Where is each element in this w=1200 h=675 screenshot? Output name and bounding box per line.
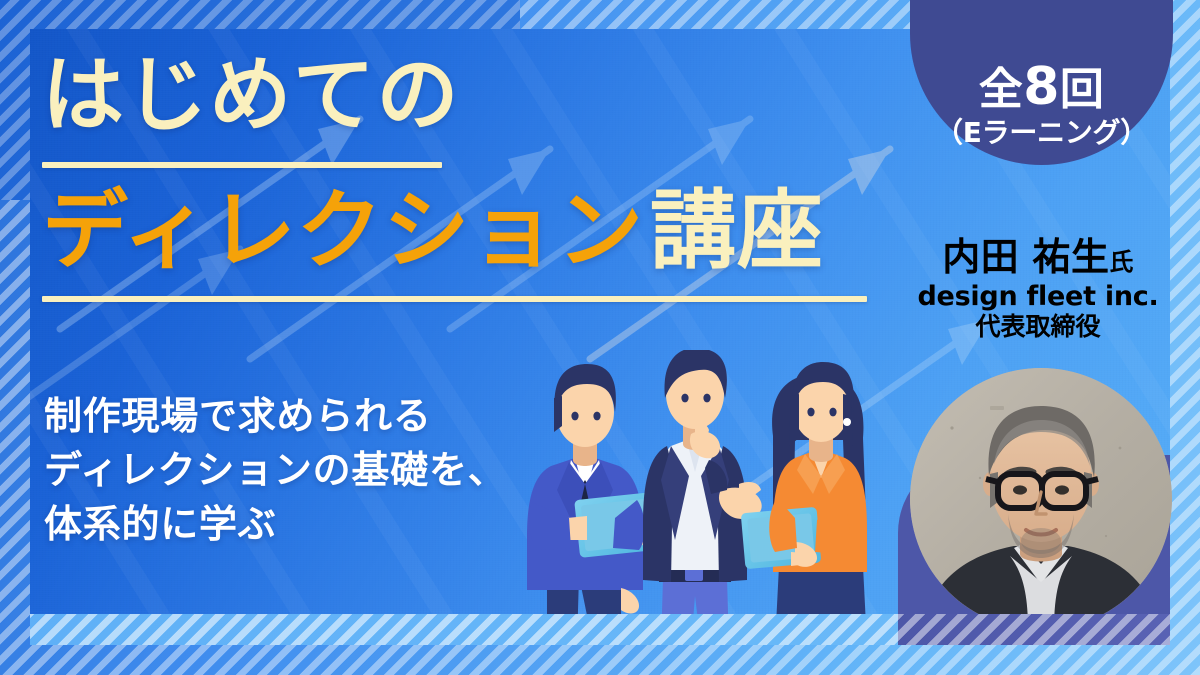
course-promo-banner: はじめての ディレクション講座 制作現場で求められる ディレクションの基礎を、 … [0,0,1200,675]
speaker-role: 代表取締役 [900,313,1176,342]
subtitle-line-2: ディレクションの基礎を、 [44,444,506,498]
title-suffix: 講座 [650,181,824,281]
subtitle-line-1: 制作現場で求められる [44,390,506,444]
badge-prefix: 全 [979,64,1023,115]
badge-sub-label: （Eラーニング） [935,117,1148,149]
speaker-portrait-photo [910,368,1172,630]
subtitle-block: 制作現場で求められる ディレクションの基礎を、 体系的に学ぶ [44,390,506,552]
person-center-navy-jacket [643,350,762,645]
title-group: はじめての ディレクション講座 [42,55,942,302]
badge-suffix: 回 [1060,64,1104,115]
speaker-company: design fleet inc. [900,281,1176,312]
badge-main-label: 全8回 [979,60,1105,115]
bottom-stripe-band-purple [898,614,1170,645]
speaker-info: 内田 祐生氏 design fleet inc. 代表取締役 [900,238,1176,342]
people-illustration-graphic [495,350,915,645]
speaker-name: 内田 祐生氏 [900,238,1176,278]
title-line-2: ディレクション講座 [42,188,942,274]
title-underline-2 [42,296,867,302]
title-underline-1 [42,162,442,168]
speaker-name-text: 内田 祐生 [942,235,1109,279]
title-line-1: はじめての [42,55,942,137]
badge-number: 8 [1023,57,1060,117]
person-left-blue-suit [527,364,658,645]
speaker-name-honorific: 氏 [1109,248,1133,276]
subtitle-line-3: 体系的に学ぶ [44,498,506,552]
portrait-illustration [910,368,1172,630]
session-count-badge: 全8回 （Eラーニング） [910,0,1173,165]
business-people-illustration [495,350,915,645]
title-keyword: ディレクション [42,181,644,281]
